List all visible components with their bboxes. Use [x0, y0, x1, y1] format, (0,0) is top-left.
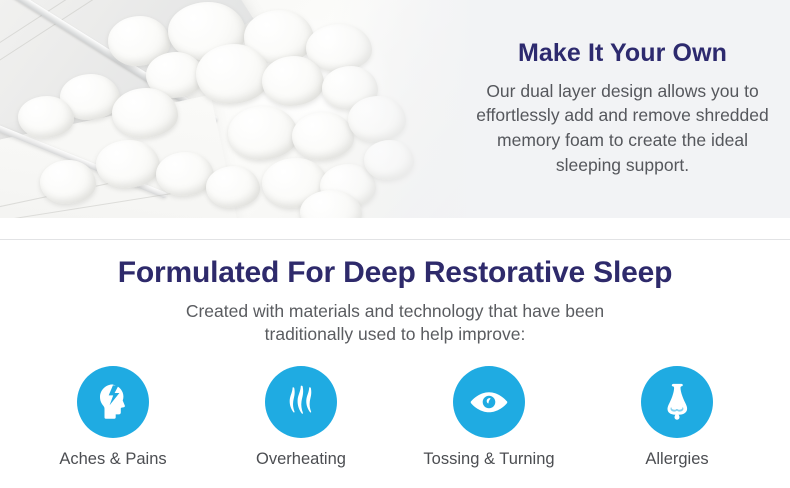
heat-waves-icon	[278, 379, 324, 425]
foam-cluster	[262, 56, 324, 106]
head-with-crack-icon	[90, 379, 136, 425]
foam-cluster	[228, 106, 298, 160]
benefit-icon-circle	[265, 366, 337, 438]
foam-cluster	[196, 44, 270, 104]
benefit-label: Allergies	[645, 450, 708, 469]
benefit-label: Aches & Pains	[59, 450, 166, 469]
hero-title: Make It Your Own	[518, 40, 727, 68]
foam-cluster	[96, 140, 160, 188]
eye-icon	[466, 379, 512, 425]
foam-cluster	[18, 96, 74, 138]
benefit-label: Overheating	[256, 450, 346, 469]
benefit-item-allergies: Allergies	[603, 366, 751, 469]
benefit-icon-row: Aches & Pains Overheating	[0, 366, 790, 469]
benefits-title: Formulated For Deep Restorative Sleep	[0, 256, 790, 290]
benefit-icon-circle	[641, 366, 713, 438]
benefit-item-aches-pains: Aches & Pains	[39, 366, 187, 469]
benefits-subtitle: Created with materials and technology th…	[160, 300, 630, 346]
foam-cluster	[112, 88, 178, 138]
benefit-item-tossing-turning: Tossing & Turning	[415, 366, 563, 469]
photo-fade-overlay	[330, 0, 470, 218]
benefit-item-overheating: Overheating	[227, 366, 375, 469]
hero-description: Our dual layer design allows you to effo…	[463, 79, 782, 178]
hero-copy: Make It Your Own Our dual layer design a…	[455, 0, 790, 218]
nose-drip-icon	[654, 379, 700, 425]
benefit-label: Tossing & Turning	[423, 450, 554, 469]
benefits-section: Formulated For Deep Restorative Sleep Cr…	[0, 240, 790, 469]
foam-pillow-photo	[0, 0, 470, 218]
benefit-icon-circle	[453, 366, 525, 438]
foam-cluster	[206, 166, 260, 208]
hero-section: Make It Your Own Our dual layer design a…	[0, 0, 790, 218]
benefit-icon-circle	[77, 366, 149, 438]
foam-cluster	[40, 160, 96, 204]
